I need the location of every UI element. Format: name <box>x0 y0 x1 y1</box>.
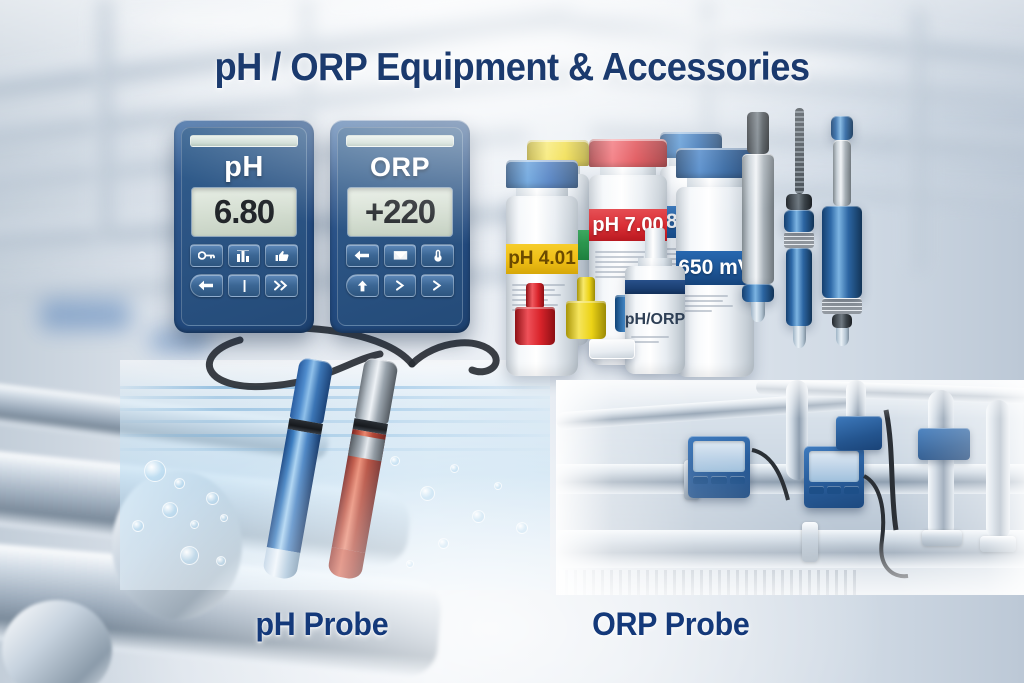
bottle-neck <box>687 178 743 187</box>
inline-electrode-steel[interactable] <box>742 112 774 322</box>
arrow-up-icon[interactable] <box>346 274 379 297</box>
electrode-armoured-cable <box>795 108 804 194</box>
electrode-gland <box>786 194 812 210</box>
ph-meter-top-strip <box>190 135 298 147</box>
ph-meter-value: 6.80 <box>214 193 274 231</box>
electrode-stem <box>833 140 851 206</box>
nozzle-red[interactable] <box>515 283 555 345</box>
electrode-lower-body <box>786 248 812 326</box>
orp-meter-top-strip <box>346 135 454 147</box>
orp-meter-display: +220 <box>347 187 453 237</box>
orp-meter-button-row-1 <box>346 244 454 267</box>
orp-meter-button-row-2 <box>346 274 454 297</box>
arrow-left-icon[interactable] <box>346 244 379 267</box>
electrode-sensor-base <box>832 314 852 328</box>
chart-icon[interactable] <box>228 244 261 267</box>
caption-ph-probe: pH Probe <box>255 606 388 643</box>
bottle-fineprint <box>682 295 748 312</box>
calibration-sachet[interactable] <box>589 339 635 359</box>
bottle-neck <box>600 167 656 175</box>
promotional-banner: pH 6.80 <box>0 0 1024 683</box>
arrow-left-icon[interactable] <box>190 274 223 297</box>
dropper-neck <box>638 258 672 266</box>
caption-orp-probe: ORP Probe <box>592 606 749 643</box>
electrode-tip <box>836 328 849 346</box>
plant-edge-fade <box>556 380 1024 595</box>
nozzle-yellow[interactable] <box>566 277 606 339</box>
orp-meter-label: ORP <box>346 151 454 183</box>
dropper-fineprint <box>631 336 679 343</box>
electrode-blue-ring <box>742 284 774 302</box>
thermometer-icon[interactable] <box>421 244 454 267</box>
double-chevron-right-icon[interactable] <box>265 274 298 297</box>
bottle-label-text: 650 mV <box>678 256 752 280</box>
key-icon[interactable] <box>190 244 223 267</box>
nozzle-tip <box>526 283 544 307</box>
electrode-cap-ring <box>831 116 853 140</box>
dropper-top-band <box>625 280 685 294</box>
dropper-label-text: pH/ORP <box>625 311 685 329</box>
page-title: pH / ORP Equipment & Accessories <box>36 46 988 90</box>
orp-meter[interactable]: ORP +220 <box>330 120 470 333</box>
ph-probe-tip <box>262 547 300 580</box>
bottle-cap <box>506 160 578 188</box>
ph-meter-button-row-1 <box>190 244 298 267</box>
orp-probe-band <box>348 434 385 462</box>
orp-meter-value: +220 <box>365 193 435 231</box>
electrode-thread <box>784 232 814 248</box>
envelope-icon[interactable] <box>384 244 417 267</box>
orp-probe-tip <box>327 547 365 580</box>
ph-meter-display: 6.80 <box>191 187 297 237</box>
nozzle-tip <box>577 277 595 301</box>
electrode-body <box>784 210 814 232</box>
chevron-right-icon[interactable] <box>421 274 454 297</box>
inline-electrode-blue-2[interactable] <box>822 116 862 346</box>
chevron-right-icon[interactable] <box>384 274 417 297</box>
nozzle-base <box>566 301 606 339</box>
bottle-cap <box>589 139 667 167</box>
ph-meter-label: pH <box>190 151 298 183</box>
electrode-tip <box>751 302 765 322</box>
bottle-label-text: pH 4.01 <box>508 248 576 270</box>
electrode-thread <box>822 298 862 314</box>
nozzle-base <box>515 307 555 345</box>
dropper-body: pH/ORP <box>625 266 685 374</box>
bottle-neck <box>516 188 568 196</box>
electrode-tip <box>793 326 806 348</box>
dropper-tip <box>645 228 665 258</box>
dropper-label-band: pH/ORP <box>625 310 685 330</box>
bottle-label-band: pH 4.01 <box>506 244 578 274</box>
plant-installation-panel <box>556 380 1024 595</box>
electrode-head <box>747 112 769 154</box>
inline-electrode-blue-1[interactable] <box>784 108 814 348</box>
ph-meter-button-row-2 <box>190 274 298 297</box>
electrode-housing <box>822 206 862 298</box>
thumbs-up-icon[interactable] <box>265 244 298 267</box>
electrode-barrel <box>742 154 774 284</box>
ph-meter[interactable]: pH 6.80 <box>174 120 314 333</box>
bar-icon[interactable] <box>228 274 261 297</box>
